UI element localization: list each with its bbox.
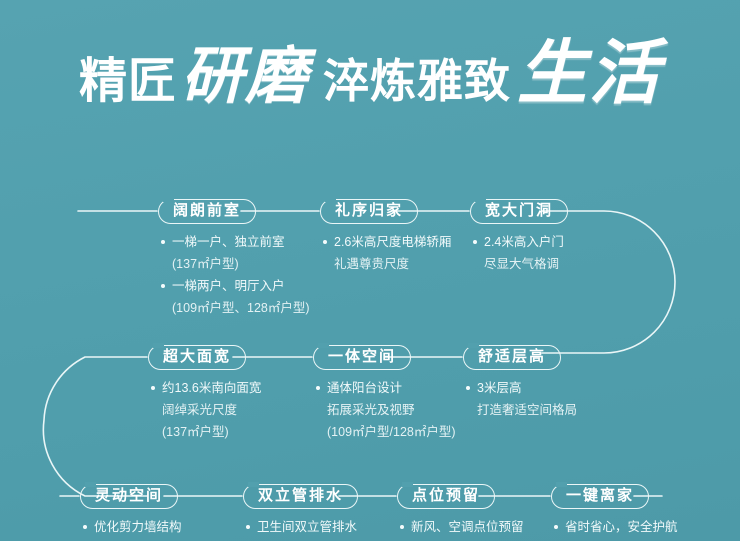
bullet-text: 2.4米高入户门 [484, 235, 564, 249]
list-item-sub: (137㎡户型) [158, 255, 310, 274]
bullet-subtext: (109㎡户型、128㎡户型) [172, 301, 310, 315]
bullet-text: 一梯一户、独立前室 [172, 235, 285, 249]
list-item-sub: 打造奢适空间格局 [463, 401, 577, 420]
bullet-dot-icon [316, 386, 320, 390]
feature-title: 舒适层高 [478, 348, 546, 365]
bullet-dot-icon [83, 525, 87, 529]
list-item-sub: 尽显大气格调 [470, 255, 568, 274]
list-item-sub: (137㎡户型) [148, 423, 261, 442]
feature-bullet-list: 2.4米高入户门 尽显大气格调 [470, 233, 568, 274]
feature-title-pill[interactable]: 阔朗前室 [158, 199, 256, 224]
feature-title-pill[interactable]: 点位预留 [397, 484, 495, 509]
list-item: 新风、空调点位预留 [397, 518, 524, 537]
feature-title: 灵动空间 [95, 487, 163, 504]
bullet-subtext: (109㎡户型/128㎡户型) [327, 425, 456, 439]
feature-bullet-list: 3米层高 打造奢适空间格局 [463, 379, 577, 420]
bullet-text: 3米层高 [477, 381, 521, 395]
list-item: 通体阳台设计 [313, 379, 456, 398]
list-item-sub: 阔绰采光尺度 [148, 401, 261, 420]
feature-bullet-list: 省时省心，安全护航 [551, 518, 678, 537]
feature-bullet-list: 2.6米高尺度电梯轿厢 礼遇尊贵尺度 [320, 233, 451, 274]
list-item: 约13.6米南向面宽 [148, 379, 261, 398]
list-item: 3米层高 [463, 379, 577, 398]
bullet-dot-icon [473, 240, 477, 244]
list-item-sub: 礼遇尊贵尺度 [320, 255, 451, 274]
list-item: 2.4米高入户门 [470, 233, 568, 252]
feature-title-pill[interactable]: 双立管排水 [243, 484, 358, 509]
feature-block: 阔朗前室 一梯一户、独立前室 (137㎡户型) 一梯两户、明厅入户 (109㎡户… [158, 199, 310, 321]
feature-block: 礼序归家 2.6米高尺度电梯轿厢 礼遇尊贵尺度 [320, 199, 451, 277]
list-item: 卫生间双立管排水 [243, 518, 358, 537]
feature-title-pill[interactable]: 超大面宽 [148, 345, 246, 370]
feature-title: 宽大门洞 [485, 202, 553, 219]
bullet-text: 省时省心，安全护航 [565, 520, 678, 534]
list-item-sub: 拓展采光及视野 [313, 401, 456, 420]
list-item: 2.6米高尺度电梯轿厢 [320, 233, 451, 252]
bullet-dot-icon [151, 386, 155, 390]
page-title: 精匠研磨淬炼雅致生活 [0, 38, 740, 108]
bullet-text: 一梯两户、明厅入户 [172, 279, 285, 293]
feature-block: 舒适层高 3米层高 打造奢适空间格局 [463, 345, 577, 423]
feature-block: 灵动空间 优化剪力墙结构 实现空间多变 [80, 484, 182, 541]
list-item: 省时省心，安全护航 [551, 518, 678, 537]
feature-block: 宽大门洞 2.4米高入户门 尽显大气格调 [470, 199, 568, 277]
feature-title-pill[interactable]: 一体空间 [313, 345, 411, 370]
feature-bullet-list: 约13.6米南向面宽 阔绰采光尺度 (137㎡户型) [148, 379, 261, 442]
feature-block: 双立管排水 卫生间双立管排水 有效防止异味 [243, 484, 358, 541]
feature-bullet-list: 通体阳台设计 拓展采光及视野 (109㎡户型/128㎡户型) [313, 379, 456, 442]
bullet-text: 约13.6米南向面宽 [162, 381, 261, 395]
list-item-sub: (109㎡户型、128㎡户型) [158, 299, 310, 318]
headline-segment-4: 生活 [517, 38, 661, 108]
feature-title: 阔朗前室 [173, 202, 241, 219]
connector-left-loop [43, 357, 147, 496]
feature-block: 点位预留 新风、空调点位预留 便于后期装修 [397, 484, 524, 541]
bullet-subtext: (137㎡户型) [162, 425, 229, 439]
list-item: 一梯一户、独立前室 [158, 233, 310, 252]
headline-segment-3: 淬炼雅致 [323, 58, 511, 104]
feature-block: 一体空间 通体阳台设计 拓展采光及视野 (109㎡户型/128㎡户型) [313, 345, 456, 445]
bullet-subtext: 尽显大气格调 [484, 257, 559, 271]
bullet-text: 卫生间双立管排水 [257, 520, 357, 534]
bullet-dot-icon [246, 525, 250, 529]
bullet-text: 2.6米高尺度电梯轿厢 [334, 235, 451, 249]
bullet-subtext: 打造奢适空间格局 [477, 403, 577, 417]
feature-title-pill[interactable]: 礼序归家 [320, 199, 418, 224]
poster-canvas: 精匠研磨淬炼雅致生活 阔朗前室 一梯一户、独立前室 (137㎡户型) 一梯两户、… [0, 0, 740, 541]
feature-title: 一键离家 [566, 487, 634, 504]
feature-bullet-list: 新风、空调点位预留 便于后期装修 [397, 518, 524, 541]
bullet-text: 通体阳台设计 [327, 381, 402, 395]
headline-segment-1: 精匠 [79, 57, 177, 105]
feature-bullet-list: 优化剪力墙结构 实现空间多变 [80, 518, 182, 541]
feature-block: 超大面宽 约13.6米南向面宽 阔绰采光尺度 (137㎡户型) [148, 345, 261, 445]
list-item-sub: (109㎡户型/128㎡户型) [313, 423, 456, 442]
list-item: 一梯两户、明厅入户 [158, 277, 310, 296]
bullet-text: 新风、空调点位预留 [411, 520, 524, 534]
feature-title: 礼序归家 [335, 202, 403, 219]
list-item: 优化剪力墙结构 [80, 518, 182, 537]
feature-title: 超大面宽 [163, 348, 231, 365]
feature-bullet-list: 卫生间双立管排水 有效防止异味 [243, 518, 358, 541]
bullet-subtext: (137㎡户型) [172, 257, 239, 271]
feature-title-pill[interactable]: 一键离家 [551, 484, 649, 509]
feature-bullet-list: 一梯一户、独立前室 (137㎡户型) 一梯两户、明厅入户 (109㎡户型、128… [158, 233, 310, 318]
feature-title: 点位预留 [412, 487, 480, 504]
feature-title-pill[interactable]: 舒适层高 [463, 345, 561, 370]
bullet-subtext: 礼遇尊贵尺度 [334, 257, 409, 271]
feature-title-pill[interactable]: 灵动空间 [80, 484, 178, 509]
bullet-dot-icon [323, 240, 327, 244]
feature-block: 一键离家 省时省心，安全护航 [551, 484, 678, 540]
bullet-dot-icon [161, 284, 165, 288]
feature-title: 双立管排水 [258, 487, 343, 504]
bullet-dot-icon [554, 525, 558, 529]
feature-title: 一体空间 [328, 348, 396, 365]
bullet-dot-icon [161, 240, 165, 244]
headline-segment-2: 研磨 [181, 45, 309, 107]
bullet-subtext: 拓展采光及视野 [327, 403, 415, 417]
bullet-dot-icon [466, 386, 470, 390]
bullet-dot-icon [400, 525, 404, 529]
bullet-subtext: 阔绰采光尺度 [162, 403, 237, 417]
feature-title-pill[interactable]: 宽大门洞 [470, 199, 568, 224]
bullet-text: 优化剪力墙结构 [94, 520, 182, 534]
